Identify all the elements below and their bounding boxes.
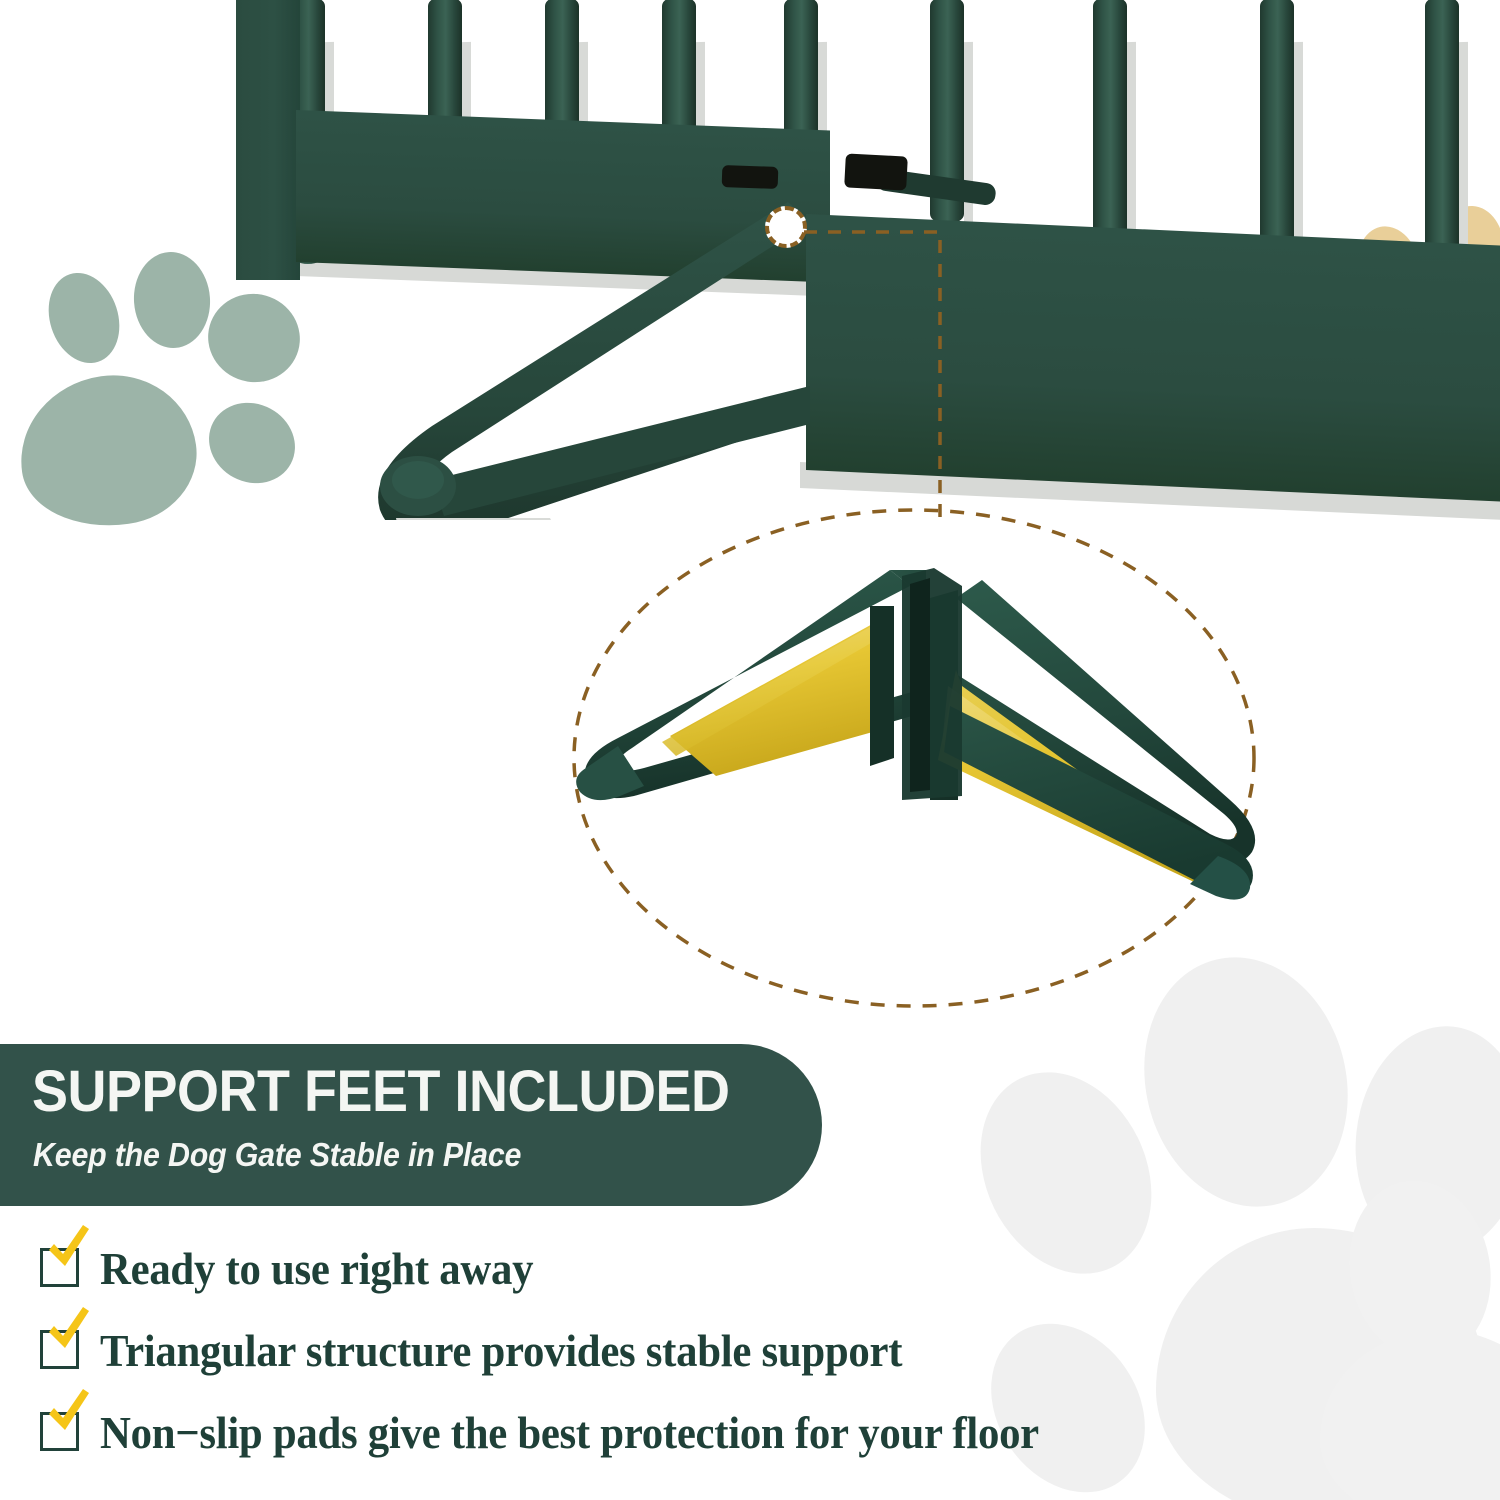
callout-leader-line [800,218,1000,528]
headline-banner: SUPPORT FEET INCLUDED Keep the Dog Gate … [0,1044,822,1206]
magnified-support-feet-detail [558,500,1298,1020]
list-item-label: Triangular structure provides stable sup… [100,1322,902,1380]
list-item: Non−slip pads give the best protection f… [40,1404,1460,1470]
gate-end-post [236,0,300,280]
list-item: Ready to use right away [40,1240,1460,1306]
gate-bar [1093,0,1127,254]
checkbox-box [40,1248,79,1287]
list-item-label: Ready to use right away [100,1240,533,1298]
list-item: Triangular structure provides stable sup… [40,1322,1460,1388]
page-title: SUPPORT FEET INCLUDED [32,1058,730,1125]
checkbox-box [40,1330,79,1369]
dog-gate-photo [0,0,1500,560]
list-item-label: Non−slip pads give the best protection f… [100,1404,1039,1462]
product-feature-image: SUPPORT FEET INCLUDED Keep the Dog Gate … [0,0,1500,1500]
feature-list: Ready to use right away Triangular struc… [40,1240,1460,1486]
page-subtitle: Keep the Dog Gate Stable in Place [33,1136,521,1174]
checkbox-box [40,1412,79,1451]
